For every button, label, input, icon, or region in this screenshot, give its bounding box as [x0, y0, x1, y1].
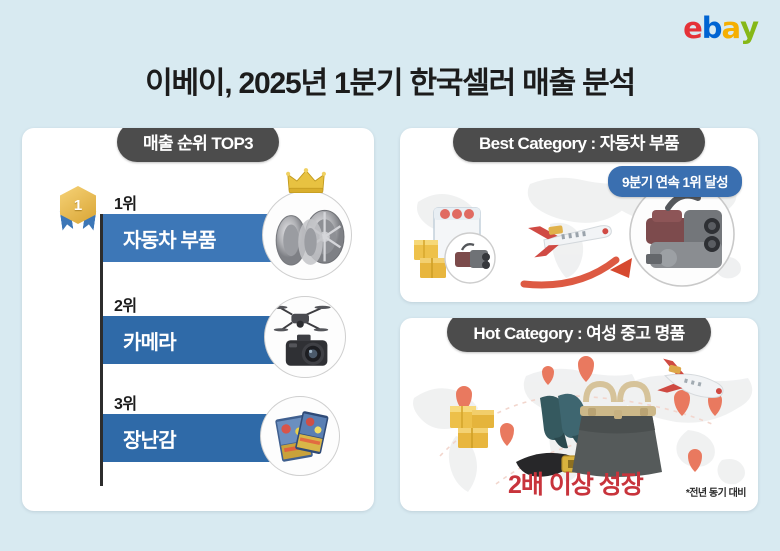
rank-category-2: 카메라 [103, 326, 176, 355]
gold-medal-icon: 1 [58, 186, 98, 232]
growth-text: 2배 이상 성장 [508, 465, 643, 501]
rank-category-1: 자동차 부품 [103, 224, 216, 253]
rank-list: 1위 1 자동차 부품 [22, 190, 374, 511]
hot-category-panel: Hot Category : 여성 중고 명품 [400, 318, 758, 511]
growth-note: *전년 동기 대비 [686, 484, 746, 499]
rank-label-2: 2위 [114, 292, 137, 316]
handbag-icon [572, 384, 662, 477]
best-category-illustration: 9분기 연속 1위 달성 [400, 162, 758, 302]
rank-thumb-1-car-wheels-image [262, 190, 352, 280]
rank-item-3: 3위 장난감 [22, 390, 374, 495]
logo-letter-e: e [683, 14, 702, 43]
logo-letter-b: b [702, 14, 722, 43]
rank-item-2: 2위 카메라 [22, 292, 374, 392]
engine-highlight-thumb [630, 182, 734, 286]
sales-rank-panel: 매출 순위 TOP3 1위 1 자동차 부품 [22, 128, 374, 511]
hot-category-illustration: 2배 이상 성장 *전년 동기 대비 [400, 352, 758, 511]
rank-item-1: 1위 1 자동차 부품 [22, 190, 374, 294]
rank-label-3: 3위 [114, 390, 137, 414]
ebay-logo: ebay [683, 14, 758, 43]
best-category-panel: Best Category : 자동차 부품 9분기 연속 1위 달성 [400, 128, 758, 302]
rank-panel-heading: 매출 순위 TOP3 [117, 128, 279, 162]
rank-label-1: 1위 [114, 190, 137, 214]
logo-letter-y: y [740, 14, 758, 43]
rank-thumb-2-camera-image [264, 296, 346, 378]
rank-panel-heading-wrap: 매출 순위 TOP3 [22, 128, 374, 162]
logo-letter-a: a [722, 14, 741, 43]
page-title: 이베이, 2025년 1분기 한국셀러 매출 분석 [0, 58, 780, 102]
best-category-badge: 9분기 연속 1위 달성 [608, 166, 742, 197]
rank-category-3: 장난감 [103, 424, 176, 453]
hot-panel-heading-wrap: Hot Category : 여성 중고 명품 [400, 318, 758, 352]
crown-icon [286, 168, 326, 194]
rank-thumb-3-toys-image [260, 396, 340, 476]
best-panel-heading-wrap: Best Category : 자동차 부품 [400, 128, 758, 162]
red-arrow-icon [524, 258, 632, 285]
small-engine-thumb [445, 233, 495, 283]
parcel-boxes-icon-hot [450, 406, 494, 448]
hot-panel-heading: Hot Category : 여성 중고 명품 [447, 318, 710, 352]
airplane-icon [528, 217, 613, 258]
best-panel-heading: Best Category : 자동차 부품 [453, 128, 705, 162]
